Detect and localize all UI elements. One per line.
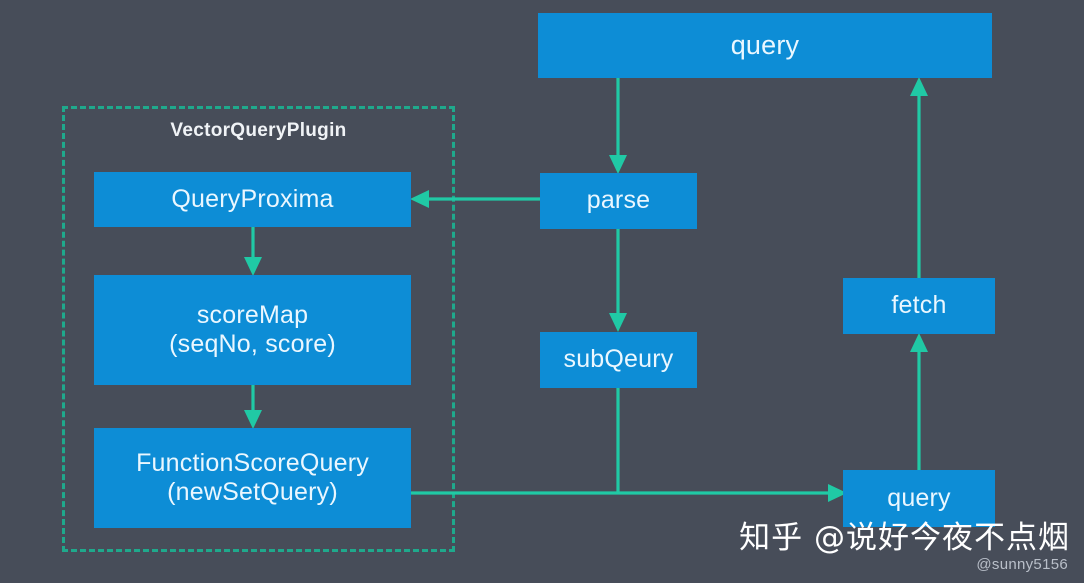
edge-fetch-to-query-top (902, 74, 938, 284)
node-functionscorequery-label: FunctionScoreQuery (136, 449, 369, 479)
node-query-top[interactable]: query (538, 13, 992, 78)
watermark-text: 知乎 @说好今夜不点烟 (739, 512, 1070, 557)
edge-parse-to-queryproxima (402, 186, 552, 214)
edge-parse-to-subqeury (600, 227, 640, 337)
node-queryproxima[interactable]: QueryProxima (94, 172, 411, 227)
node-query-top-label: query (731, 30, 800, 62)
node-fetch-label: fetch (891, 291, 946, 321)
edge-queryproxima-to-scoremap (236, 225, 276, 281)
edge-query-right-to-fetch (902, 330, 938, 476)
node-functionscorequery-sublabel: (newSetQuery) (167, 478, 338, 508)
node-fetch[interactable]: fetch (843, 278, 995, 334)
node-scoremap-label: scoreMap (197, 301, 308, 331)
edge-scoremap-to-functionscorequery (236, 383, 276, 433)
edge-query-top-to-parse (600, 76, 640, 178)
diagram-canvas: VectorQueryPlugin (0, 0, 1084, 583)
edge-functionscorequery-to-query-right (404, 480, 856, 508)
node-functionscorequery[interactable]: FunctionScoreQuery (newSetQuery) (94, 428, 411, 528)
node-queryproxima-label: QueryProxima (171, 185, 333, 215)
node-subqeury[interactable]: subQeury (540, 332, 697, 388)
node-query-right-label: query (887, 484, 951, 514)
node-scoremap-sublabel: (seqNo, score) (169, 330, 336, 360)
node-subqeury-label: subQeury (564, 345, 674, 375)
vectorqueryplugin-label: VectorQueryPlugin (62, 120, 455, 142)
node-parse-label: parse (587, 186, 651, 216)
node-scoremap[interactable]: scoreMap (seqNo, score) (94, 275, 411, 385)
watermark-handle: @sunny5156 (976, 556, 1068, 573)
node-parse[interactable]: parse (540, 173, 697, 229)
